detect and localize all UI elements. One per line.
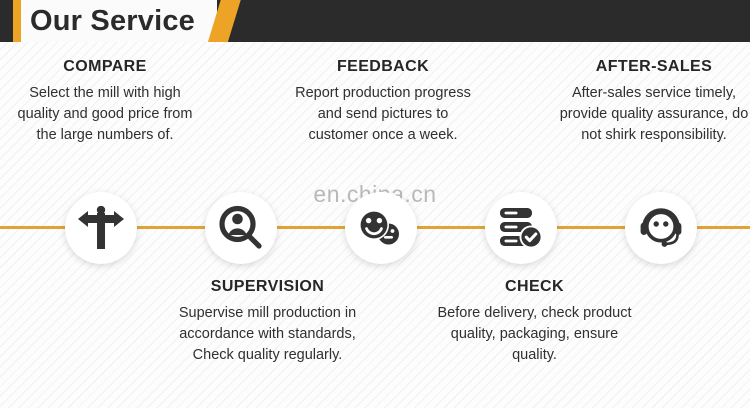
service-block-feedback: FEEDBACK Report production progress and …	[288, 58, 478, 146]
service-icon-feedback	[345, 192, 417, 264]
smiley-faces-icon	[357, 207, 405, 249]
service-title-feedback: FEEDBACK	[288, 58, 478, 76]
arrows-crossroad-icon	[78, 206, 124, 250]
service-description-after-sales: After-sales service timely, provide qual…	[559, 83, 749, 146]
service-block-after-sales: AFTER-SALES After-sales service timely, …	[559, 58, 749, 146]
service-description-supervision: Supervise mill production in accordance …	[170, 303, 365, 366]
service-title-after-sales: AFTER-SALES	[559, 58, 749, 76]
service-title-compare: COMPARE	[10, 58, 200, 76]
service-description-feedback: Report production progress and send pict…	[288, 83, 478, 146]
service-description-compare: Select the mill with high quality and go…	[10, 83, 200, 146]
service-description-check: Before delivery, check product quality, …	[437, 303, 632, 366]
service-icon-after-sales	[625, 192, 697, 264]
page-title: Our Service	[30, 0, 195, 42]
checklist-badge-icon	[498, 206, 544, 250]
header-left-dark-edge	[0, 0, 11, 42]
service-block-check: CHECK Before delivery, check product qua…	[437, 278, 632, 366]
service-icon-supervision	[205, 192, 277, 264]
header-orange-accent-bar	[13, 0, 21, 42]
person-magnifier-icon	[218, 205, 264, 251]
service-block-compare: COMPARE Select the mill with high qualit…	[10, 58, 200, 146]
header-bar: Our Service	[0, 0, 750, 42]
service-title-supervision: SUPERVISION	[170, 278, 365, 296]
service-infographic-canvas: Our Service en.china.cn COMPARE Select t…	[0, 0, 750, 408]
service-icon-check	[485, 192, 557, 264]
service-icon-compare	[65, 192, 137, 264]
service-block-supervision: SUPERVISION Supervise mill production in…	[170, 278, 365, 366]
headset-support-icon	[637, 205, 685, 251]
service-title-check: CHECK	[437, 278, 632, 296]
